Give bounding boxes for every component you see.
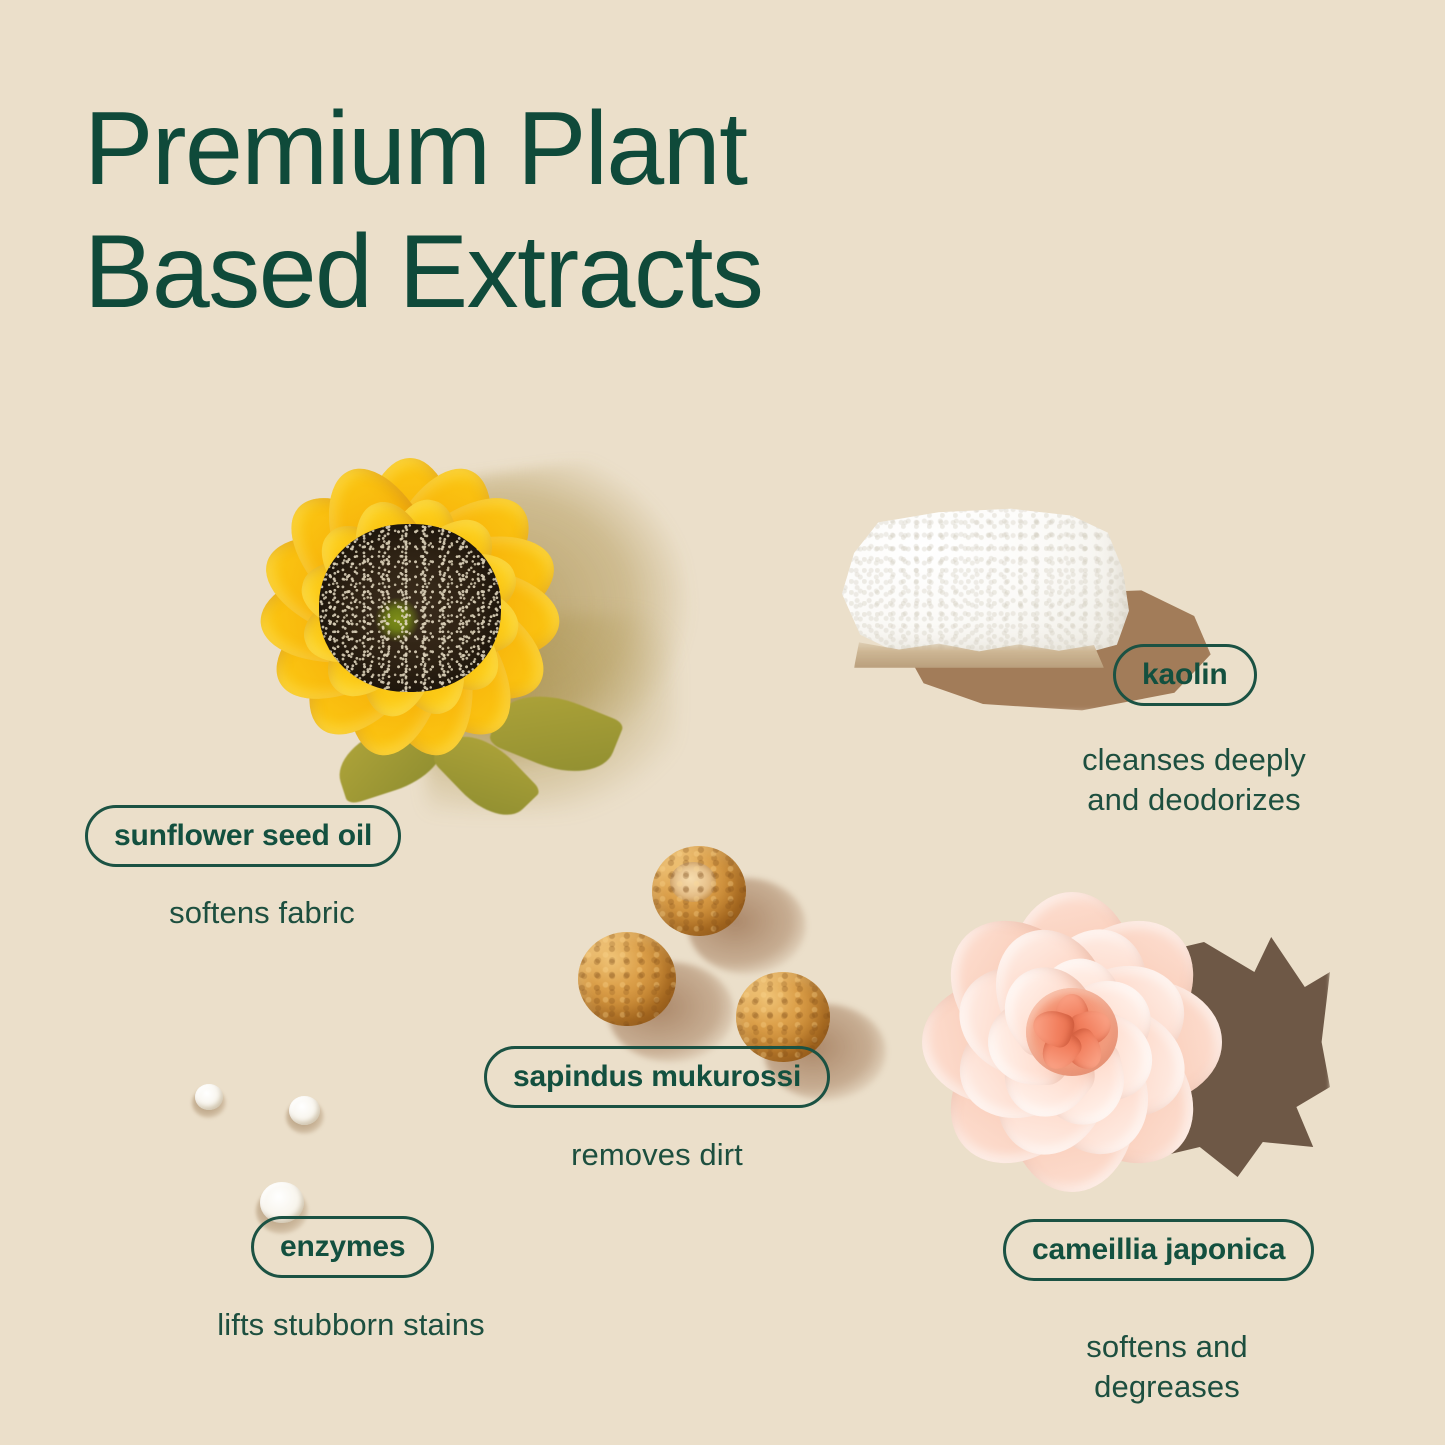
benefit-cameillia-japonica: softens and degreases [1028, 1327, 1306, 1406]
soap-nut-scar [670, 862, 716, 902]
soap-nut [652, 846, 746, 936]
benefit-enzymes: lifts stubborn stains [217, 1305, 484, 1345]
camellia-center [1026, 988, 1118, 1076]
label-enzymes[interactable]: enzymes [251, 1216, 434, 1278]
enzyme-granule [195, 1084, 223, 1110]
sunflower-photo [196, 398, 716, 848]
label-cameillia-japonica[interactable]: cameillia japonica [1003, 1219, 1314, 1281]
benefit-sapindus-mukurossi: removes dirt [571, 1135, 743, 1175]
label-kaolin[interactable]: kaolin [1113, 644, 1257, 706]
benefit-kaolin: cleanses deeply and deodorizes [1082, 740, 1306, 819]
infographic-canvas: Premium Plant Based Extracts [0, 0, 1445, 1445]
benefit-sunflower-seed-oil: softens fabric [169, 893, 355, 933]
label-sunflower-seed-oil[interactable]: sunflower seed oil [85, 805, 401, 867]
label-sapindus-mukurossi[interactable]: sapindus mukurossi [484, 1046, 830, 1108]
page-title: Premium Plant Based Extracts [84, 88, 984, 333]
soap-nut [578, 932, 676, 1026]
camellia-flower-photo [906, 876, 1326, 1246]
sunflower-seed-head [319, 524, 501, 692]
enzyme-granule [289, 1096, 320, 1125]
